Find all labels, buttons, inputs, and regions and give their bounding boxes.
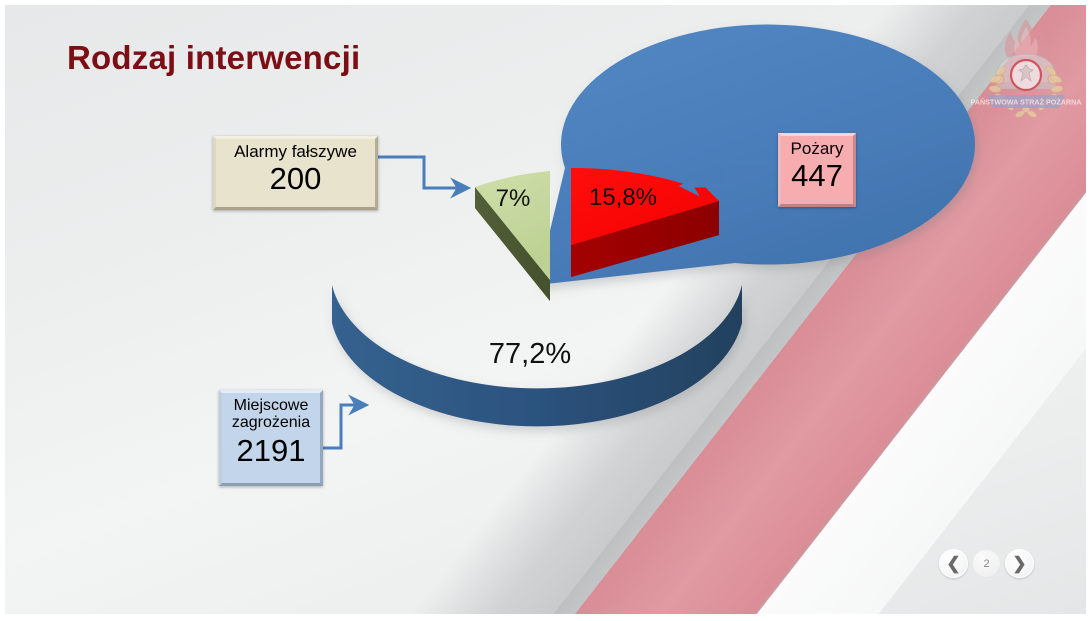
callout-alarmy-value: 200 — [220, 162, 371, 195]
callout-miejscowe-value: 2191 — [226, 434, 316, 467]
callout-miejscowe-label-line1: Miejscowe — [226, 397, 316, 414]
connector-arrows — [5, 5, 1086, 614]
callout-alarmy-falszywe[interactable]: Alarmy fałszywe 200 — [213, 136, 378, 210]
callout-miejscowe-label-line2: zagrożenia — [226, 414, 316, 431]
callout-pozary-value: 447 — [785, 159, 849, 192]
slide-navigation: ❮ 2 ❯ — [939, 549, 1034, 578]
presentation-slide: Rodzaj interwencji — [0, 0, 1091, 621]
next-slide-button[interactable]: ❯ — [1005, 549, 1034, 578]
connector-miejscowe — [318, 405, 365, 448]
connector-alarmy — [377, 157, 467, 188]
callout-pozary[interactable]: Pożary 447 — [778, 133, 856, 207]
previous-slide-button[interactable]: ❮ — [939, 549, 968, 578]
callout-miejscowe-zagrozenia[interactable]: Miejscowe zagrożenia 2191 — [219, 390, 323, 486]
slide-canvas: Rodzaj interwencji — [5, 5, 1086, 614]
slide-number-badge[interactable]: 2 — [972, 549, 1001, 578]
callout-pozary-label: Pożary — [785, 140, 849, 158]
connector-pozary — [683, 163, 773, 186]
callout-alarmy-label: Alarmy fałszywe — [220, 143, 371, 161]
